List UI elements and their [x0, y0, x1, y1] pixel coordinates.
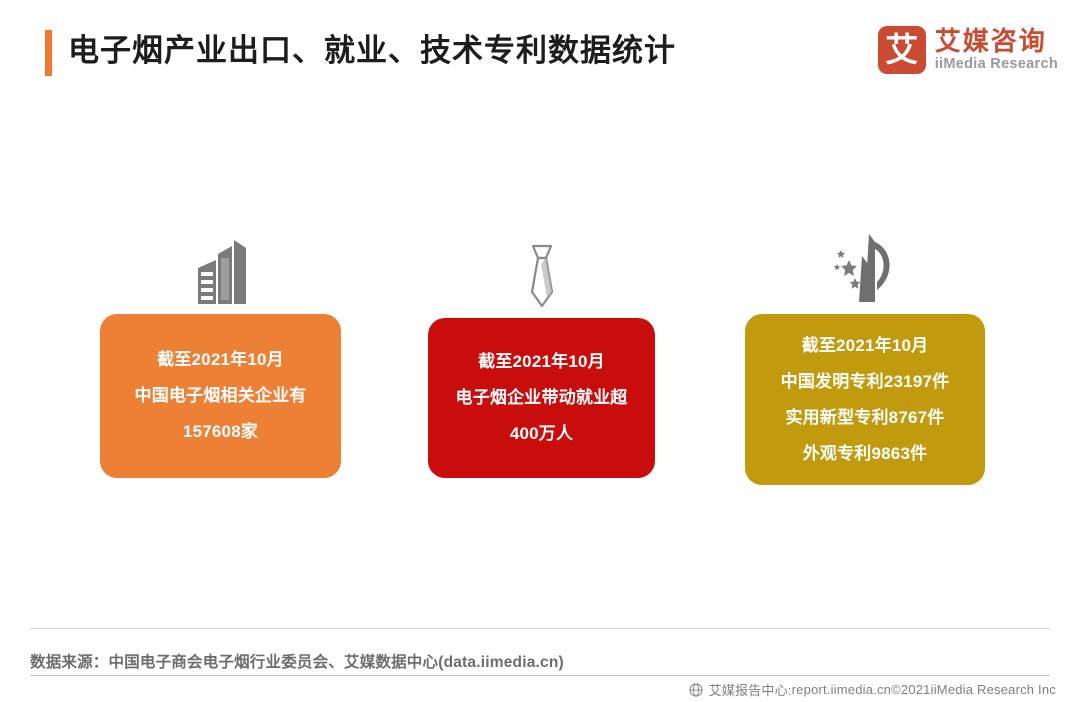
stat-card-body: 截至2021年10月 中国电子烟相关企业有 157608家 [100, 314, 341, 478]
footer-divider-top [30, 628, 1050, 629]
card-line: 截至2021年10月 [157, 342, 284, 378]
stat-card-body: 截至2021年10月 中国发明专利23197件 实用新型专利8767件 外观专利… [745, 314, 985, 485]
data-source-text: 数据来源：中国电子商会电子烟行业委员会、艾媒数据中心(data.iimedia.… [30, 650, 564, 672]
copyright-text: ©2021 [891, 682, 931, 697]
card-line: 400万人 [510, 416, 573, 452]
globe-icon [689, 683, 703, 697]
report-url[interactable]: report.iimedia.cn [792, 682, 892, 697]
company-name: iiMedia Research Inc [931, 682, 1056, 697]
necktie-icon [428, 234, 655, 314]
card-line: 157608家 [183, 414, 258, 450]
footer-divider-bottom [30, 675, 1050, 676]
report-center-label: 艾媒报告中心: [709, 680, 792, 699]
stat-cards-row: 截至2021年10月 中国电子烟相关企业有 157608家 截至2021年10月… [0, 0, 1080, 702]
card-line: 截至2021年10月 [478, 344, 605, 380]
footer-bar: 艾媒报告中心: report.iimedia.cn ©2021 iiMedia … [689, 680, 1056, 699]
office-building-icon [100, 230, 341, 308]
card-line: 截至2021年10月 [802, 328, 929, 364]
patent-monument-icon [745, 226, 985, 310]
card-line: 电子烟企业带动就业超 [456, 380, 628, 416]
card-line: 外观专利9863件 [803, 436, 928, 472]
card-line: 中国电子烟相关企业有 [135, 378, 307, 414]
card-line: 实用新型专利8767件 [785, 400, 944, 436]
card-line: 中国发明专利23197件 [781, 364, 950, 400]
stat-card-body: 截至2021年10月 电子烟企业带动就业超 400万人 [428, 318, 655, 478]
